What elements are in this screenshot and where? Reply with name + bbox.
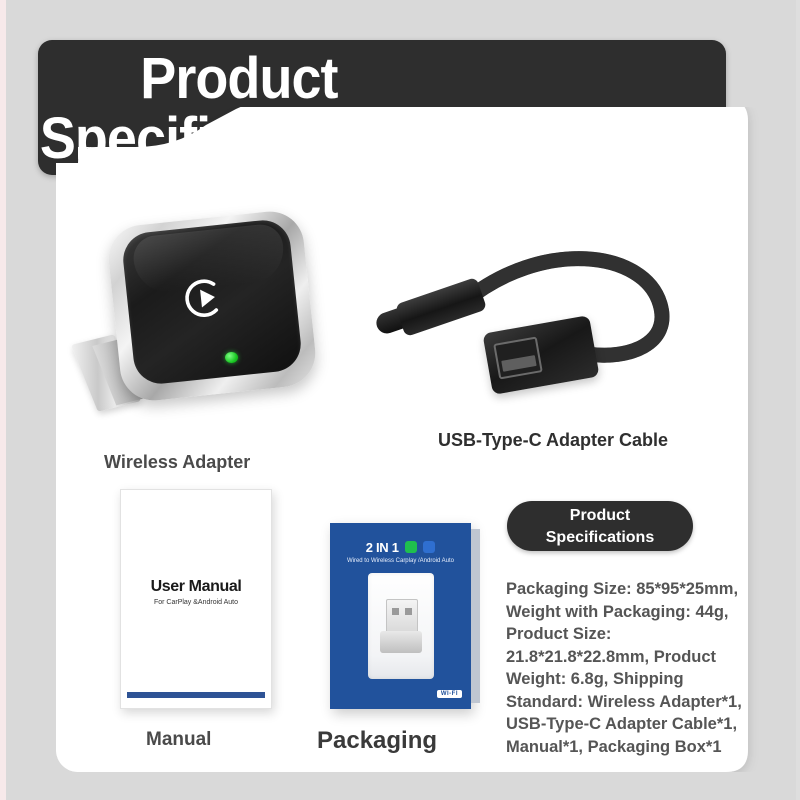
usb-cable-image: [392, 244, 692, 429]
box-side-panel: [471, 529, 480, 703]
page-title: Product Specifications: [38, 40, 678, 175]
box-title: 2 IN 1: [330, 540, 471, 555]
user-manual-image: User Manual For CarPlay &Android Auto: [120, 489, 272, 709]
page-title-line2: Specifications: [40, 109, 393, 169]
spec-badge-line2: Specifications: [507, 527, 693, 549]
usb-cable-label: USB-Type-C Adapter Cable: [438, 430, 668, 451]
packaging-label: Packaging: [317, 727, 437, 755]
box-usb-base: [380, 631, 422, 653]
box-product-window: [368, 573, 434, 679]
manual-label: Manual: [146, 729, 211, 751]
packaging-box-image: 2 IN 1 Wired to Wireless Carplay /Androi…: [330, 523, 471, 709]
spec-badge: Product Specifications: [507, 501, 693, 551]
spec-details-text: Packaging Size: 85*95*25mm, Weight with …: [506, 578, 758, 758]
wifi-badge: WI-FI: [437, 690, 462, 698]
usb-a-slot: [493, 336, 543, 379]
status-led-indicator: [225, 352, 238, 363]
box-usb-connector: [386, 599, 418, 635]
spec-badge-line1: Product: [507, 505, 693, 527]
box-title-text: 2 IN 1: [366, 540, 399, 555]
manual-accent-bar: [127, 692, 265, 698]
carplay-badge-icon: [405, 541, 417, 553]
manual-cover-subtitle: For CarPlay &Android Auto: [121, 599, 271, 606]
wireless-adapter-image: [78, 212, 338, 427]
box-subtitle: Wired to Wireless Carplay /Android Auto: [330, 558, 471, 564]
android-auto-badge-icon: [423, 541, 435, 553]
page-title-line1: Product: [140, 49, 337, 109]
wireless-adapter-label: Wireless Adapter: [104, 452, 250, 473]
manual-cover-title: User Manual: [121, 578, 271, 596]
carplay-logo-icon: [180, 272, 233, 325]
